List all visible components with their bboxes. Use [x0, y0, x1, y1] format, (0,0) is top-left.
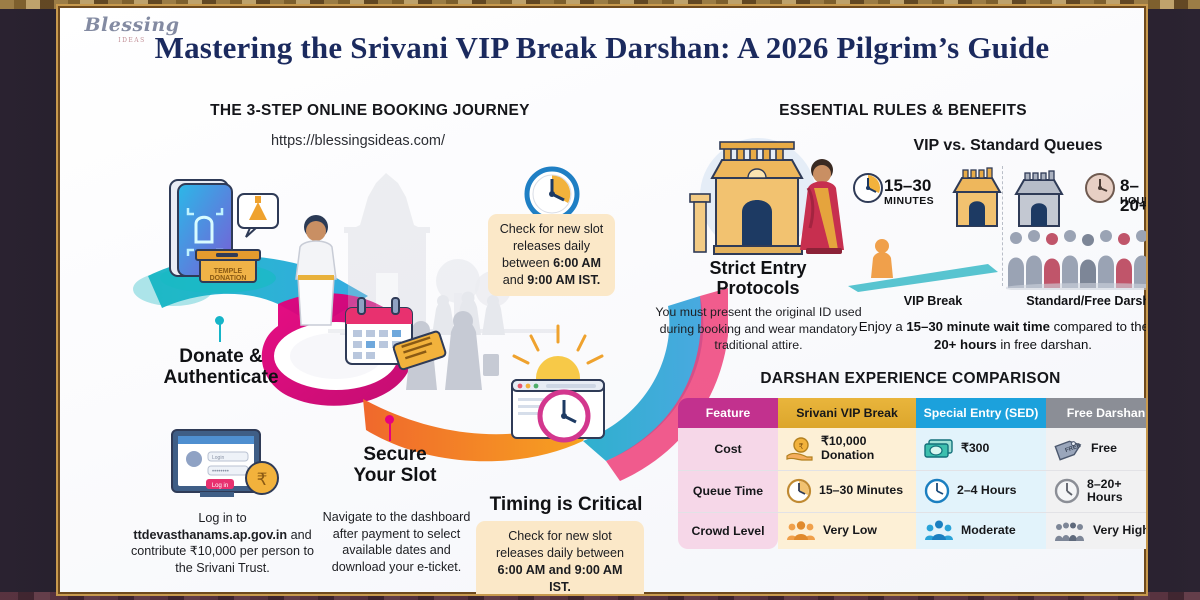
people-icon [786, 520, 816, 542]
price-tag-icon: FREE [1054, 437, 1084, 461]
vip-path-arrow [848, 258, 1008, 294]
cell-queue-srivani: 15–30 Minutes [778, 471, 916, 514]
connector-dot-2 [385, 415, 394, 424]
vip-queue-label: VIP Break [868, 294, 998, 308]
svg-text:••••••••: •••••••• [212, 469, 229, 475]
clock-icon [1054, 478, 1080, 504]
connector-stem-2 [389, 421, 391, 441]
step-2-body: Navigate to the dashboard after payment … [314, 509, 479, 575]
cell-cost-sed: ₹300 [916, 428, 1046, 471]
cell-queue-free: 8–20+ Hours [1046, 471, 1148, 514]
strict-entry-body: You must present the original ID used du… [646, 304, 871, 354]
section-header-booking-journey: THE 3-STEP ONLINE BOOKING JOURNEY [150, 102, 590, 120]
cell-text: ₹300 [961, 442, 989, 456]
mobile-donation-illustration: TEMPLE DONATION [156, 174, 296, 294]
page-title: Mastering the Srivani VIP Break Darshan:… [58, 30, 1146, 66]
clock-icon [786, 478, 812, 504]
strict-entry-title: Strict Entry Protocols [658, 258, 858, 299]
cell-queue-sed: 2–4 Hours [916, 471, 1046, 514]
cell-text: Free [1091, 442, 1117, 456]
svg-text:₹: ₹ [798, 442, 803, 451]
standard-temple-icon [1013, 170, 1065, 228]
step-2-title: Secure Your Slot [320, 444, 470, 487]
row-label-cost: Cost [678, 428, 778, 471]
svg-text:TEMPLE: TEMPLE [214, 268, 243, 275]
cell-text: Very High [1093, 524, 1148, 538]
site-url: https://blessingsideas.com/ [208, 133, 508, 149]
cell-text: 15–30 Minutes [819, 484, 903, 498]
step-1-body: Log in to ttdevasthanams.ap.gov.in and c… [130, 510, 315, 576]
cell-text: 2–4 Hours [957, 484, 1016, 498]
cell-text: 8–20+ Hours [1087, 478, 1148, 506]
calendar-ticket-illustration [340, 294, 450, 384]
table-row: Queue Time 15–30 Minutes [678, 471, 1148, 514]
cell-text: Moderate [961, 524, 1016, 538]
connector-stem-1 [219, 322, 221, 342]
section-header-comparison-table: DARSHAN EXPERIENCE COMPARISON [658, 370, 1148, 388]
vip-clock-icon [852, 172, 884, 204]
cell-crowd-srivani: Very Low [778, 513, 916, 549]
browser-clock-illustration [498, 324, 618, 444]
col-srivani: Srivani VIP Break [778, 398, 916, 428]
svg-text:Login: Login [212, 455, 224, 461]
hand-coin-icon: ₹ [786, 437, 814, 461]
temple-gateway-illustration [686, 134, 856, 259]
svg-text:Log in: Log in [212, 483, 228, 489]
callout-slot-release-top: Check for new slot releases daily betwee… [488, 214, 615, 296]
subsection-header-queues: VIP vs. Standard Queues [858, 137, 1148, 155]
vip-wait-unit: MINUTES [884, 195, 934, 207]
col-free: Free Darshan [1046, 398, 1148, 428]
queue-summary-text: Enjoy a 15–30 minute wait time compared … [848, 318, 1148, 354]
svg-text:DONATION: DONATION [210, 275, 247, 282]
clock-icon [924, 478, 950, 504]
cell-text: ₹10,000 Donation [821, 435, 874, 463]
standard-clock-icon [1084, 172, 1116, 204]
step-3-title: Timing is Critical [466, 494, 666, 515]
cell-text: Very Low [823, 524, 877, 538]
people-icon [924, 520, 954, 542]
col-feature: Feature [678, 398, 778, 428]
svg-text:₹: ₹ [257, 470, 268, 490]
table-header-row: Feature Srivani VIP Break Special Entry … [678, 398, 1148, 428]
crowd-icon [1054, 520, 1086, 542]
comparison-table: Feature Srivani VIP Break Special Entry … [678, 398, 1148, 549]
row-label-crowd-level: Crowd Level [678, 513, 778, 549]
row-label-queue-time: Queue Time [678, 471, 778, 514]
infographic-card: Blessing IDEAS Mastering the Srivani VIP… [56, 4, 1148, 596]
desktop-login-illustration: Login •••••••• Log in ₹ [166, 426, 286, 506]
standard-wait-unit: HOURS [1120, 195, 1148, 207]
section-header-rules-benefits: ESSENTIAL RULES & BENEFITS [658, 102, 1148, 120]
cell-crowd-free: Very High [1046, 513, 1148, 549]
connector-dot-1 [215, 316, 224, 325]
vip-wait-time: 15–30 [884, 176, 931, 196]
standard-crowd-illustration [1006, 224, 1148, 290]
cell-crowd-sed: Moderate [916, 513, 1046, 549]
step-1-title: Donate & Authenticate [136, 346, 306, 389]
cell-cost-free: FREE Free [1046, 428, 1148, 471]
cash-icon [924, 438, 954, 460]
col-sed: Special Entry (SED) [916, 398, 1046, 428]
vip-temple-icon [951, 166, 1003, 228]
ttd-portal-link[interactable]: ttdevasthanams.ap.gov.in [133, 528, 287, 542]
table-row: Cost ₹ ₹10,000 Donation [678, 428, 1148, 471]
standard-queue-label: Standard/Free Darshan [1013, 294, 1148, 308]
cell-cost-srivani: ₹ ₹10,000 Donation [778, 428, 916, 471]
callout-slot-release-bottom: Check for new slot releases daily betwee… [476, 521, 644, 596]
table-row: Crowd Level Very Low [678, 513, 1148, 549]
